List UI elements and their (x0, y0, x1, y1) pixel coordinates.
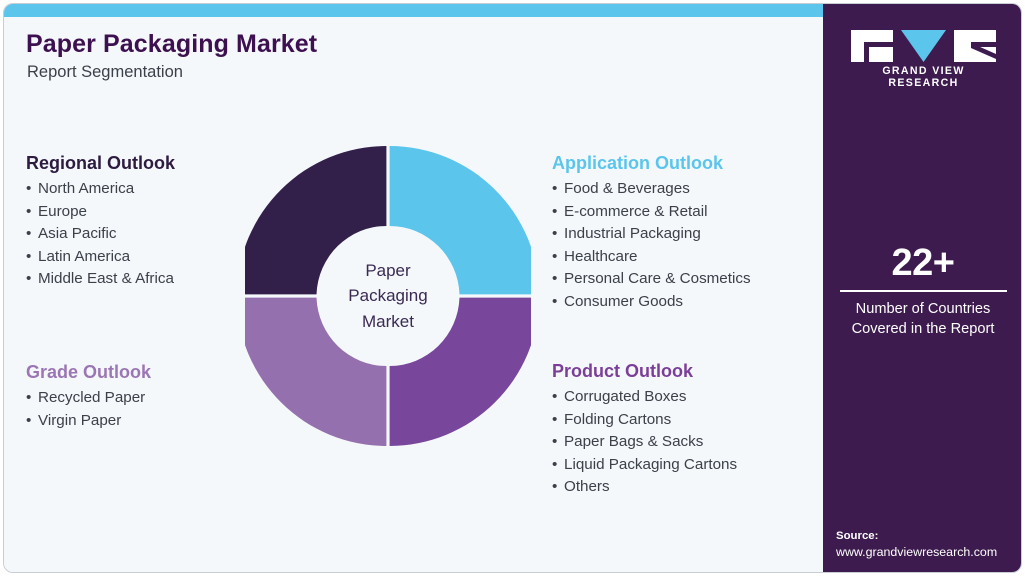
grade-outlook-title: Grade Outlook (26, 361, 151, 383)
regional-outlook-block: Regional Outlook North America Europe As… (26, 152, 175, 291)
donut-segment-application (390, 146, 531, 294)
list-item: Food & Beverages (552, 178, 751, 201)
list-item: Corrugated Boxes (552, 386, 737, 409)
side-panel: GRAND VIEW RESEARCH 22+ Number of Countr… (823, 4, 1022, 573)
donut-segment-grade (245, 298, 386, 446)
donut-chart-svg (245, 145, 531, 447)
gvr-logo: GRAND VIEW RESEARCH (851, 30, 996, 82)
product-outlook-list: Corrugated Boxes Folding Cartons Paper B… (552, 386, 737, 499)
infographic-card: Paper Packaging Market Report Segmentati… (3, 3, 1022, 573)
stat-value: 22+ (833, 242, 1013, 284)
donut-segment-product (390, 298, 531, 446)
list-item: E-commerce & Retail (552, 201, 751, 224)
stat-label-line-2: Covered in the Report (833, 319, 1013, 339)
list-item: Europe (26, 201, 175, 224)
application-outlook-block: Application Outlook Food & Beverages E-c… (552, 152, 751, 313)
regional-outlook-title: Regional Outlook (26, 152, 175, 174)
list-item: Virgin Paper (26, 410, 151, 433)
list-item: Others (552, 476, 737, 499)
countries-stat: 22+ Number of Countries Covered in the R… (833, 242, 1013, 339)
grade-outlook-list: Recycled Paper Virgin Paper (26, 387, 151, 432)
list-item: Personal Care & Cosmetics (552, 268, 751, 291)
grade-outlook-block: Grade Outlook Recycled Paper Virgin Pape… (26, 361, 151, 432)
source-url[interactable]: www.grandviewresearch.com (836, 544, 1022, 561)
list-item: Healthcare (552, 246, 751, 269)
list-item: Latin America (26, 246, 175, 269)
gvr-wordmark: GRAND VIEW RESEARCH (851, 65, 996, 89)
regional-outlook-list: North America Europe Asia Pacific Latin … (26, 178, 175, 291)
application-outlook-title: Application Outlook (552, 152, 751, 174)
product-outlook-title: Product Outlook (552, 360, 737, 382)
list-item: Middle East & Africa (26, 268, 175, 291)
list-item: Recycled Paper (26, 387, 151, 410)
source-label: Source: (836, 528, 1022, 544)
list-item: Paper Bags & Sacks (552, 431, 737, 454)
donut-chart: Paper Packaging Market (245, 145, 531, 447)
list-item: Consumer Goods (552, 291, 751, 314)
infographic-root: Paper Packaging Market Report Segmentati… (0, 0, 1025, 576)
top-accent-bar (4, 4, 823, 17)
page-title: Paper Packaging Market (26, 30, 317, 59)
stat-label: Number of Countries Covered in the Repor… (833, 299, 1013, 339)
stat-divider (840, 290, 1007, 292)
application-outlook-list: Food & Beverages E-commerce & Retail Ind… (552, 178, 751, 313)
list-item: Liquid Packaging Cartons (552, 454, 737, 477)
list-item: North America (26, 178, 175, 201)
list-item: Folding Cartons (552, 409, 737, 432)
list-item: Industrial Packaging (552, 223, 751, 246)
product-outlook-block: Product Outlook Corrugated Boxes Folding… (552, 360, 737, 499)
gvr-logo-icon (851, 30, 996, 62)
donut-segment-regional (245, 146, 386, 294)
stat-label-line-1: Number of Countries (833, 299, 1013, 319)
list-item: Asia Pacific (26, 223, 175, 246)
source-block: Source: www.grandviewresearch.com (836, 528, 1022, 561)
page-subtitle: Report Segmentation (27, 63, 183, 82)
